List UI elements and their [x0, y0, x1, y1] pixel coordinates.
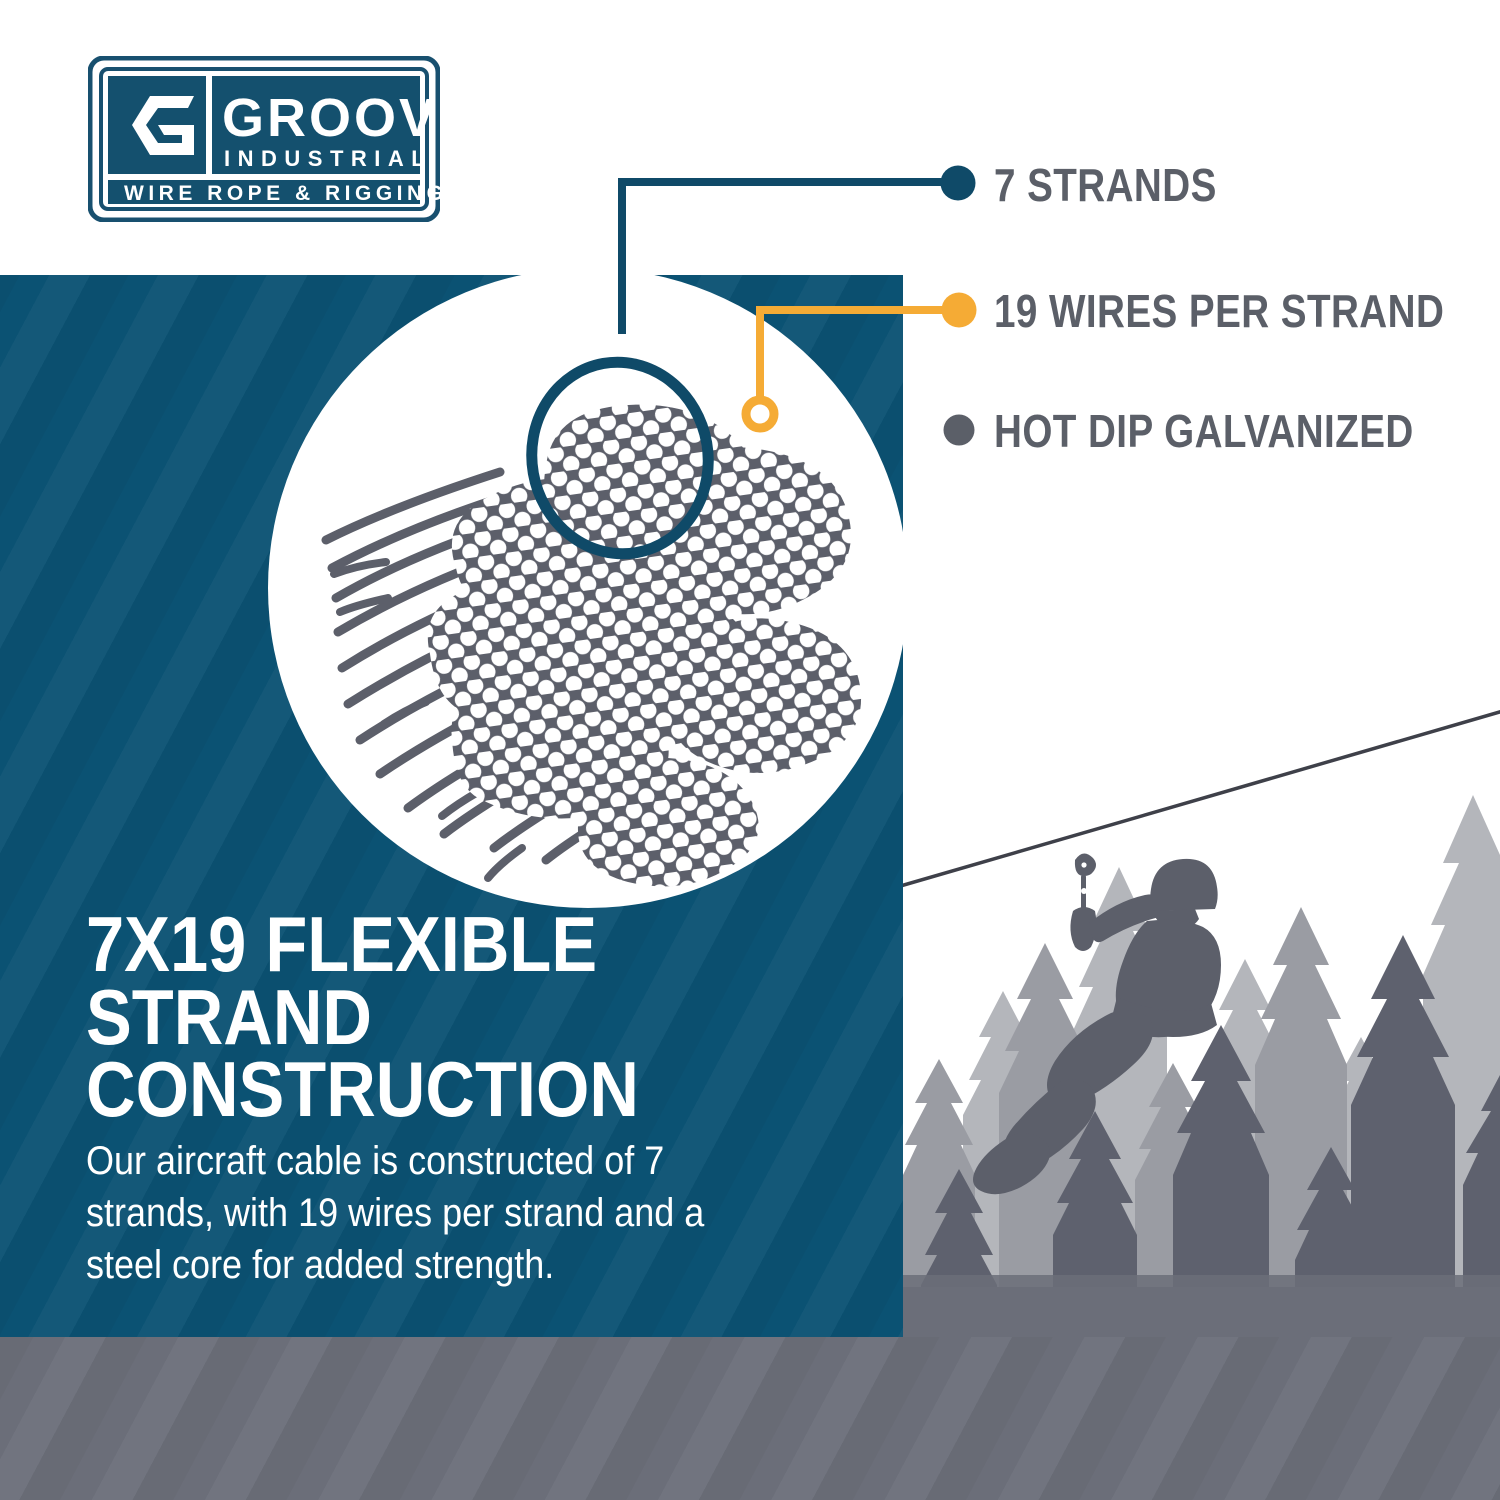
- body-description: Our aircraft cable is constructed of 7 s…: [86, 1135, 716, 1291]
- callout-label-strands: 7 STRANDS: [994, 158, 1217, 212]
- infographic-canvas: GROOVE INDUSTRIAL WIRE ROPE & RIGGING: [0, 0, 1500, 1500]
- callout-label-wires: 19 WIRES PER STRAND: [994, 284, 1444, 338]
- headline-line-2: STRAND CONSTRUCTION: [86, 981, 781, 1126]
- callout-dot-strands: [941, 166, 976, 201]
- bottom-gray-band: [0, 1337, 1500, 1500]
- bottom-band-stripe-texture: [0, 1337, 1500, 1500]
- headline-line-1: 7X19 FLEXIBLE: [86, 908, 781, 981]
- logo-tagline: WIRE ROPE & RIGGING: [124, 182, 440, 205]
- scene-ground-fill: [903, 1287, 1500, 1337]
- wire-rope-illustration: [268, 268, 908, 908]
- page-title: 7X19 FLEXIBLE STRAND CONSTRUCTION: [86, 908, 781, 1126]
- brand-logo[interactable]: GROOVE INDUSTRIAL WIRE ROPE & RIGGING: [88, 56, 440, 222]
- logo-wordmark: GROOVE: [222, 88, 440, 148]
- strand: [578, 758, 759, 887]
- logo-subtitle: INDUSTRIAL: [224, 146, 432, 171]
- callout-label-galvanized: HOT DIP GALVANIZED: [994, 404, 1414, 458]
